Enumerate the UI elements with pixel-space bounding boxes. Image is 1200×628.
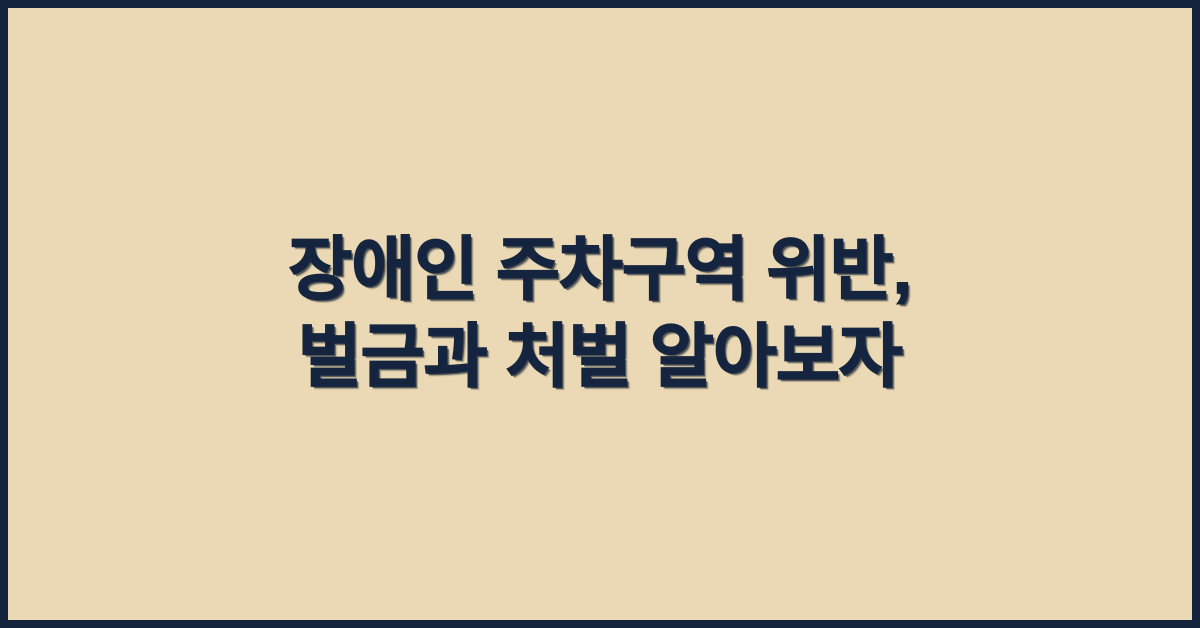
title-line-1: 장애인 주차구역 위반, [8,226,1192,313]
title-line-2: 벌금과 처벌 알아보자 [8,313,1192,400]
title-block: 장애인 주차구역 위반, 벌금과 처벌 알아보자 [8,226,1192,402]
thumbnail-card: 장애인 주차구역 위반, 벌금과 처벌 알아보자 [0,0,1200,628]
